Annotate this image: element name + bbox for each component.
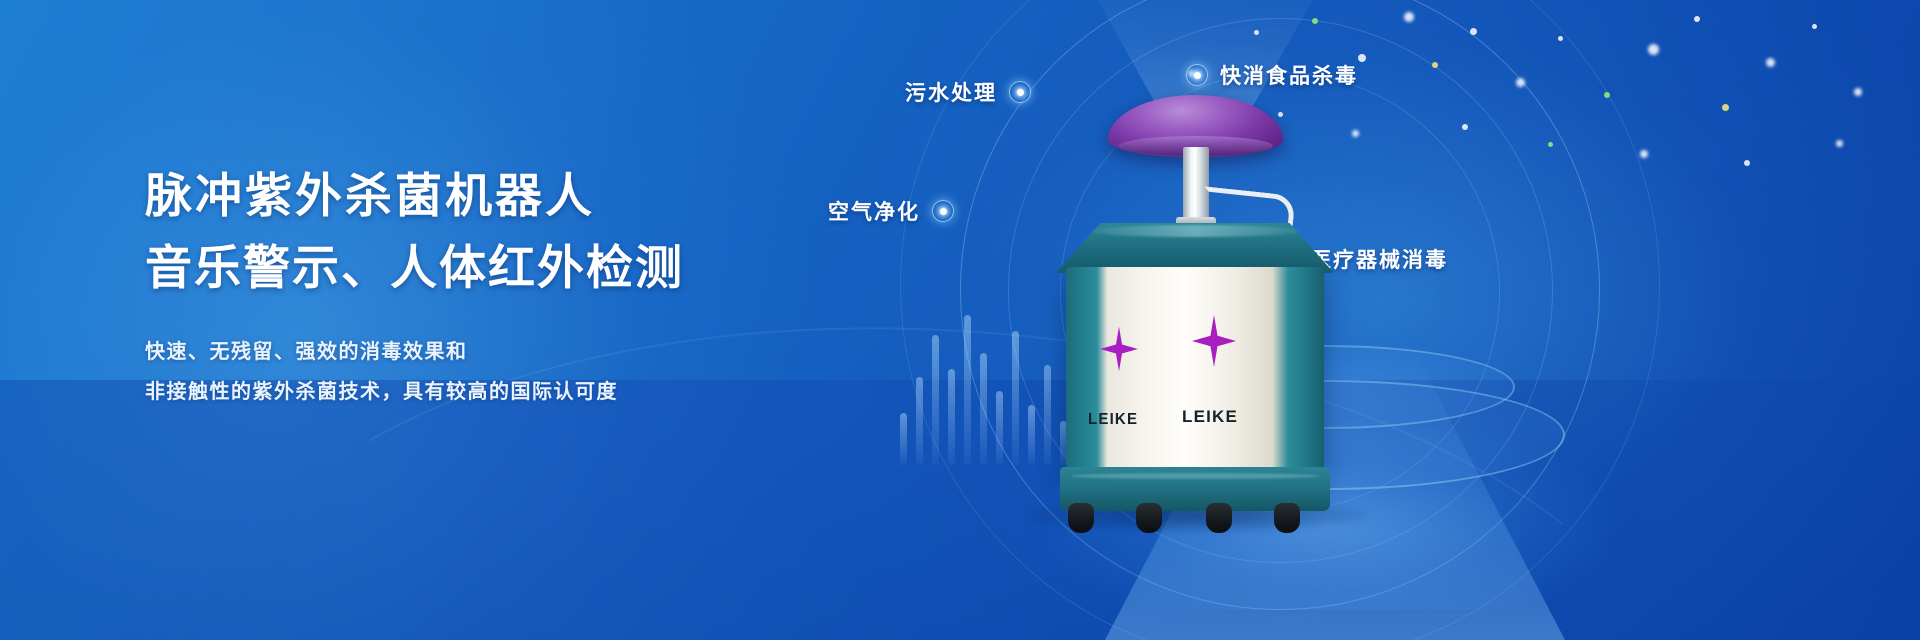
device-wheel: [1068, 503, 1094, 533]
bokeh-particle: [1854, 88, 1862, 96]
bokeh-particle: [1722, 104, 1729, 111]
device-body: [1066, 267, 1324, 477]
bokeh-particle: [1358, 54, 1366, 62]
subtitle-line-2: 非接触性的紫外杀菌技术，具有较高的国际认可度: [145, 372, 684, 412]
bokeh-particle: [1470, 28, 1477, 35]
bokeh-particle: [1312, 18, 1318, 24]
subtitle-block: 快速、无残留、强效的消毒效果和 非接触性的紫外杀菌技术，具有较高的国际认可度: [145, 332, 684, 412]
headline-line-1: 脉冲紫外杀菌机器人: [145, 160, 684, 232]
bokeh-particle: [1766, 58, 1775, 67]
banner-text-block: 脉冲紫外杀菌机器人 音乐警示、人体红外检测 快速、无残留、强效的消毒效果和 非接…: [145, 160, 684, 412]
feature-label: 空气净化: [828, 196, 920, 226]
bokeh-particle: [1744, 160, 1750, 166]
bokeh-particle: [1432, 62, 1438, 68]
bokeh-particle: [1404, 12, 1414, 22]
device-top-highlight: [1090, 225, 1300, 237]
bokeh-particle: [1640, 150, 1648, 158]
bokeh-particle: [1548, 142, 1553, 147]
device-wheel: [1206, 503, 1232, 533]
bokeh-particle: [1558, 36, 1563, 41]
device-wheel: [1136, 503, 1162, 533]
bokeh-particle: [1254, 30, 1259, 35]
bokeh-particle: [1812, 24, 1817, 29]
bokeh-particle: [1604, 92, 1610, 98]
bokeh-particle: [1836, 140, 1843, 147]
feature-callout-food[interactable]: 快消食品杀毒: [1186, 60, 1358, 90]
feature-label: 污水处理: [905, 77, 997, 107]
node-dot-icon: [1009, 81, 1031, 103]
bokeh-particle: [1462, 124, 1468, 130]
headline-line-2: 音乐警示、人体红外检测: [145, 232, 684, 304]
background-glow-bottom: [0, 380, 1920, 640]
subtitle-line-1: 快速、无残留、强效的消毒效果和: [145, 332, 684, 372]
device-brand-left: LEIKE: [1088, 411, 1138, 429]
device-wheel: [1274, 503, 1300, 533]
bokeh-particle: [1694, 16, 1700, 22]
feature-label: 快消食品杀毒: [1220, 60, 1358, 90]
feature-callout-sewage[interactable]: 污水处理: [905, 77, 1031, 107]
bokeh-particle: [1648, 44, 1659, 55]
device-brand-right: LEIKE: [1182, 407, 1238, 427]
feature-callout-air[interactable]: 空气净化: [828, 196, 954, 226]
uv-disinfection-robot-illustration: LEIKE LEIKE: [1030, 95, 1360, 505]
node-dot-icon: [1186, 64, 1208, 86]
bokeh-particle: [1516, 78, 1525, 87]
promo-banner: 脉冲紫外杀菌机器人 音乐警示、人体红外检测 快速、无残留、强效的消毒效果和 非接…: [0, 0, 1920, 640]
node-dot-icon: [932, 200, 954, 222]
